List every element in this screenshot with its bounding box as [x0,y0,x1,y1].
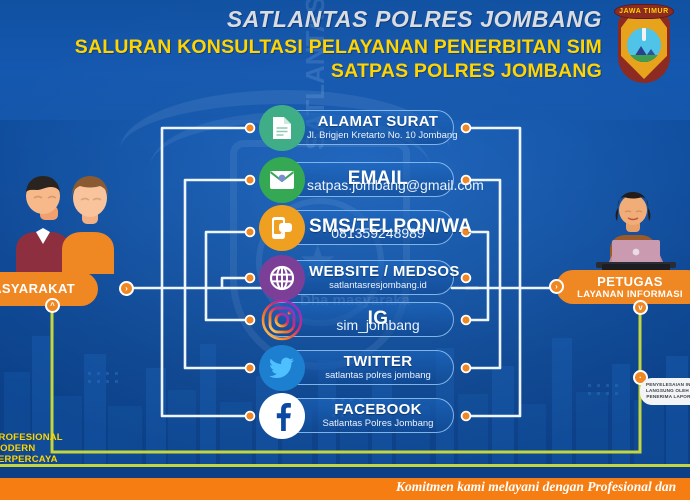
channel-card-instagram[interactable]: IG sim_jombang [262,302,454,337]
facebook-icon [259,393,305,439]
phone-chat-icon [259,205,305,251]
document-icon [259,105,305,151]
channel-card-facebook[interactable]: FACEBOOK Satlantas Polres Jombang [262,398,454,433]
channel-title: TWITTER [309,354,447,370]
globe-icon [259,255,305,301]
channel-card-website-medsos[interactable]: WEBSITE / MEDSOS satlantasresjombang.id [262,260,454,295]
channel-card-email[interactable]: EMAIL satpas.jombang@gmail.com [262,162,454,197]
left-connector-knob: › [119,281,134,296]
channel-value: sim_jombang [307,320,449,331]
twitter-icon [259,345,305,391]
resolution-note: PENYELESAIAN INFORMASI LANGSUNG OLEH PET… [640,378,690,405]
officer-at-laptop-illustration [582,186,690,272]
envelope-icon [259,157,305,203]
right-actor-pill[interactable]: PETUGAS LAYANAN INFORMASI [556,270,690,304]
motto-line-2: MODERN [0,443,63,454]
footer-accent-lane [0,464,690,467]
note-line-3: PENERIMA LAPORAN [646,394,690,400]
channel-value: satlantasresjombang.id [307,280,449,291]
channel-value: satpas.jombang@gmail.com [307,180,449,191]
channel-value: Jl. Brigjen Kretarto No. 10 Jombang [307,130,449,141]
channel-title: FACEBOOK [309,402,447,418]
footer-tagline: Komitmen kami melayani dengan Profesiona… [396,479,676,495]
channel-title: WEBSITE / MEDSOS [309,264,447,280]
right-actor-label-2: LAYANAN INFORMASI [577,289,683,300]
motto-line-1: PROFESIONAL [0,432,63,443]
channel-card-twitter[interactable]: TWITTER satlantas polres jombang [262,350,454,385]
channel-card-sms-telpon-wa[interactable]: SMS/TELPON/WA 081359248989 [262,210,454,245]
footer-bar: Komitmen kami melayani dengan Profesiona… [0,478,690,500]
left-motto: PROFESIONAL MODERN TERPERCAYA [0,432,63,465]
left-yellow-knob: ^ [45,298,60,313]
channel-title: ALAMAT SURAT [309,114,447,130]
channel-value: Satlantas Polres Jombang [307,418,449,429]
right-connector-knob: › [549,279,564,294]
channel-card-alamat-surat[interactable]: ALAMAT SURAT Jl. Brigjen Kretarto No. 10… [262,110,454,145]
two-citizens-illustration [0,168,124,274]
left-actor-label: MASYARAKAT [0,282,75,296]
infographic-canvas: ★ SATLANTAS Dha masyaraka [0,0,690,500]
instagram-icon [259,297,305,343]
channel-value: 081359248989 [307,228,449,239]
channel-value: satlantas polres jombang [307,370,449,381]
right-yellow-knob: v [633,300,648,315]
right-actor-label-1: PETUGAS [597,275,663,289]
